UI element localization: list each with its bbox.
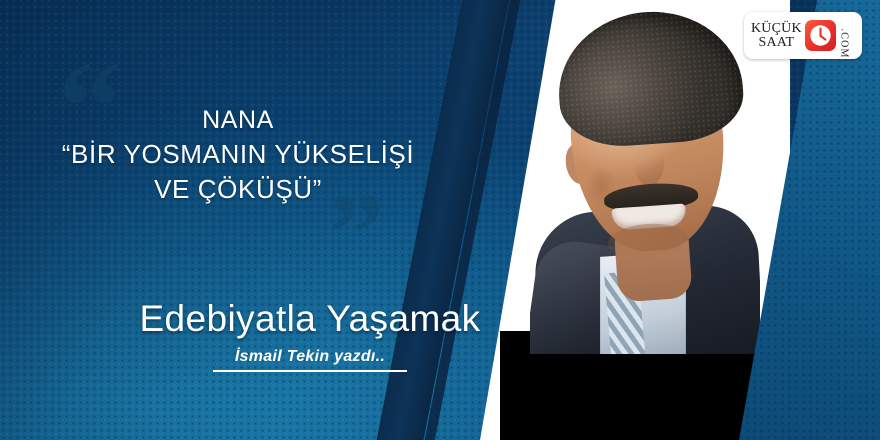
clock-icon (805, 20, 836, 51)
logo-word-bottom: SAAT (751, 36, 802, 49)
author-byline: İsmail Tekin yazdı.. (235, 348, 385, 365)
logo-word-top: KÜÇÜK (751, 22, 802, 35)
portrait-nose (634, 140, 664, 186)
article-banner: “ ” NANA “BİR YOSMANIN YÜKSELİŞİ VE ÇÖKÜ… (0, 0, 880, 440)
portrait-hair (554, 6, 747, 151)
title-line-3: VE ÇÖKÜŞÜ” (0, 172, 476, 207)
title-line-1: NANA (0, 104, 476, 137)
article-title: NANA “BİR YOSMANIN YÜKSELİŞİ VE ÇÖKÜŞÜ” (0, 104, 476, 206)
column-name: Edebiyatla Yaşamak (0, 298, 620, 339)
logo-tld: .COM (838, 29, 849, 43)
byline-underline: İsmail Tekin yazdı.. (213, 348, 407, 372)
logo-wordmark: KÜÇÜK SAAT (751, 22, 805, 49)
column-block: Edebiyatla Yaşamak İsmail Tekin yazdı.. (0, 298, 620, 372)
site-logo[interactable]: KÜÇÜK SAAT .COM (744, 12, 862, 59)
title-line-2: “BİR YOSMANIN YÜKSELİŞİ (0, 137, 476, 172)
